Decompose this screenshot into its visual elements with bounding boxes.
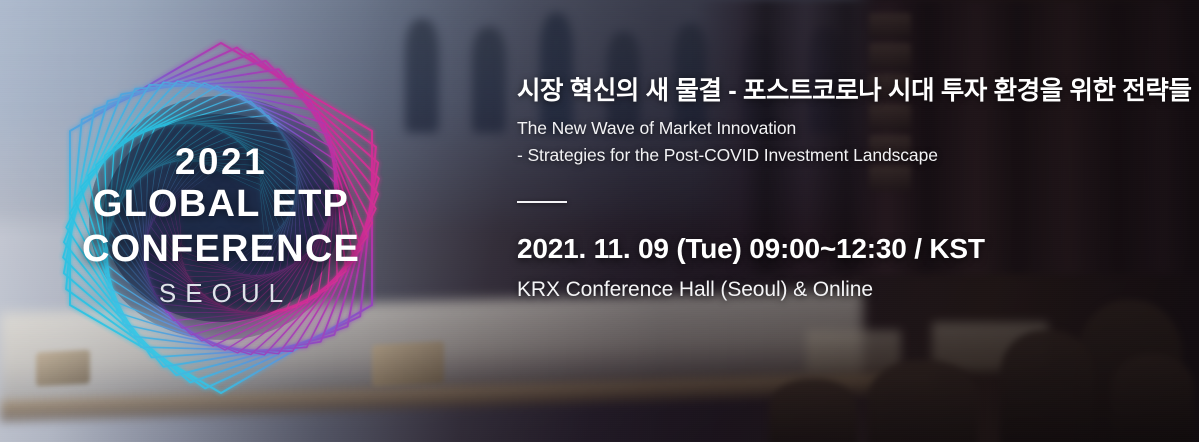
event-venue: KRX Conference Hall (Seoul) & Online — [517, 277, 1187, 302]
logo-name-line1: GLOBAL ETP — [93, 183, 349, 226]
subtitle-line-1: The New Wave of Market Innovation — [517, 115, 1187, 142]
conference-banner: 2021 GLOBAL ETP CONFERENCE SEOUL 시장 혁신의 … — [0, 0, 1199, 442]
logo-name-line2: CONFERENCE — [82, 228, 360, 271]
conference-logo: 2021 GLOBAL ETP CONFERENCE SEOUL — [6, 0, 436, 442]
headline-korean: 시장 혁신의 새 물결 - 포스트코로나 시대 투자 환경을 위한 전략들 — [517, 76, 1187, 106]
banner-copy: 시장 혁신의 새 물결 - 포스트코로나 시대 투자 환경을 위한 전략들 Th… — [517, 76, 1187, 302]
subtitle-line-2: - Strategies for the Post-COVID Investme… — [517, 142, 1187, 169]
logo-year: 2021 — [175, 142, 267, 181]
logo-city: SEOUL — [150, 280, 292, 306]
logo-wordmark: 2021 GLOBAL ETP CONFERENCE SEOUL — [6, 0, 436, 442]
subtitle-english: The New Wave of Market Innovation - Stra… — [517, 115, 1187, 168]
divider-rule — [517, 201, 567, 203]
event-datetime: 2021. 11. 09 (Tue) 09:00~12:30 / KST — [517, 232, 1187, 266]
